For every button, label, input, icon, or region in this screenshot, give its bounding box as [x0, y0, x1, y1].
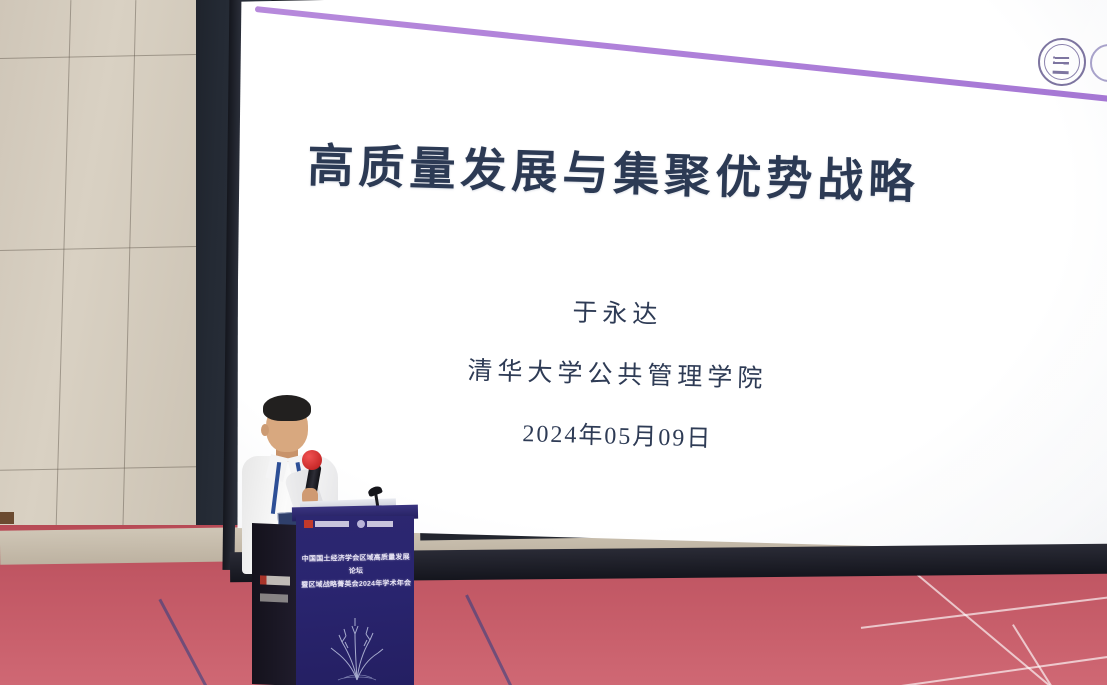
university-logo-mark — [357, 520, 365, 528]
microphone-head-icon — [302, 450, 322, 470]
wall-seam — [0, 54, 196, 59]
podium-banner-line-2: 暨区域战略菁英会2024年学术年会 — [300, 577, 412, 592]
court-line — [907, 566, 1092, 685]
wall-plate — [0, 512, 14, 524]
tsinghua-university-logo-icon — [357, 520, 393, 528]
host-logo-wordmark — [315, 521, 349, 527]
podium-side-logo-2 — [260, 593, 288, 602]
wall-seam — [0, 246, 196, 251]
conference-host-logo-icon — [304, 520, 349, 528]
presentation-photo-scene: 高质量发展与集聚优势战略 于永达 清华大学公共管理学院 2024年05月09日 — [0, 0, 1107, 685]
floor-tape-line — [158, 599, 231, 685]
wall-seam — [0, 466, 196, 470]
reed-grass-line-art-icon — [318, 612, 396, 682]
court-line — [1012, 624, 1088, 685]
speaker-hair — [263, 395, 311, 421]
podium-side-panel — [252, 523, 298, 685]
host-logo-mark — [304, 520, 313, 528]
university-logo-wordmark — [367, 521, 393, 527]
podium-banner: 中国国土经济学会区域高质量发展论坛 暨区域战略菁英会2024年学术年会 — [300, 551, 413, 592]
podium-side-logo-1 — [260, 575, 290, 585]
podium-logo-bar — [304, 518, 408, 529]
floor-tape-line — [465, 594, 525, 685]
podium-banner-line-1: 中国国土经济学会区域高质量发展论坛 — [300, 551, 412, 579]
court-line — [901, 653, 1107, 685]
speaker-ear — [261, 424, 269, 436]
court-line — [861, 595, 1107, 629]
